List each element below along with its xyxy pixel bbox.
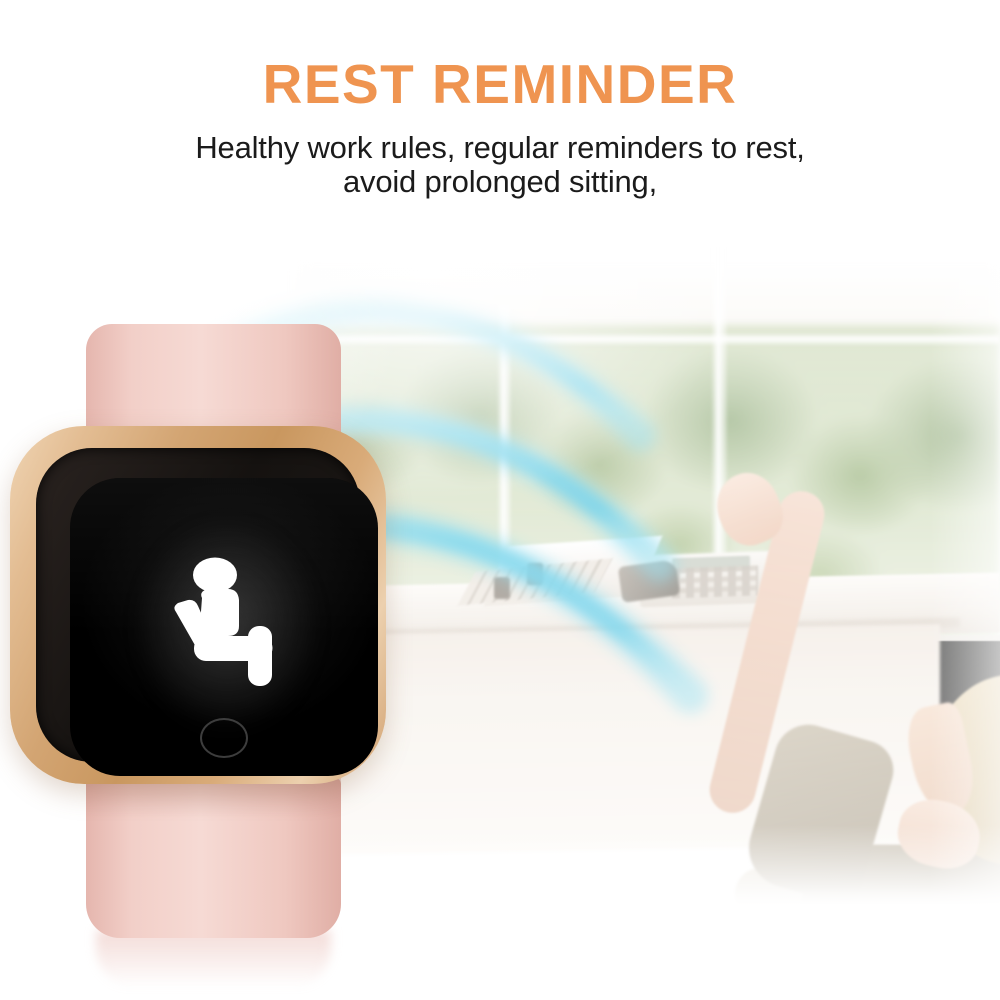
- smart-watch: [0, 300, 420, 940]
- page-title: REST REMINDER: [0, 57, 1000, 112]
- sitting-person-icon: [166, 554, 290, 690]
- subtitle-line-2: avoid prolonged sitting,: [0, 165, 1000, 199]
- subtitle-line-1: Healthy work rules, regular reminders to…: [0, 131, 1000, 165]
- watch-strap-shadow: [86, 778, 341, 818]
- watch-reflection: [96, 930, 331, 988]
- watch-case: [10, 426, 386, 784]
- watch-screen[interactable]: [70, 478, 378, 776]
- page-subtitle: Healthy work rules, regular reminders to…: [0, 131, 1000, 199]
- watch-bezel: [36, 448, 360, 762]
- watch-home-button[interactable]: [200, 718, 248, 758]
- product-banner: REST REMINDER Healthy work rules, regula…: [0, 0, 1000, 1000]
